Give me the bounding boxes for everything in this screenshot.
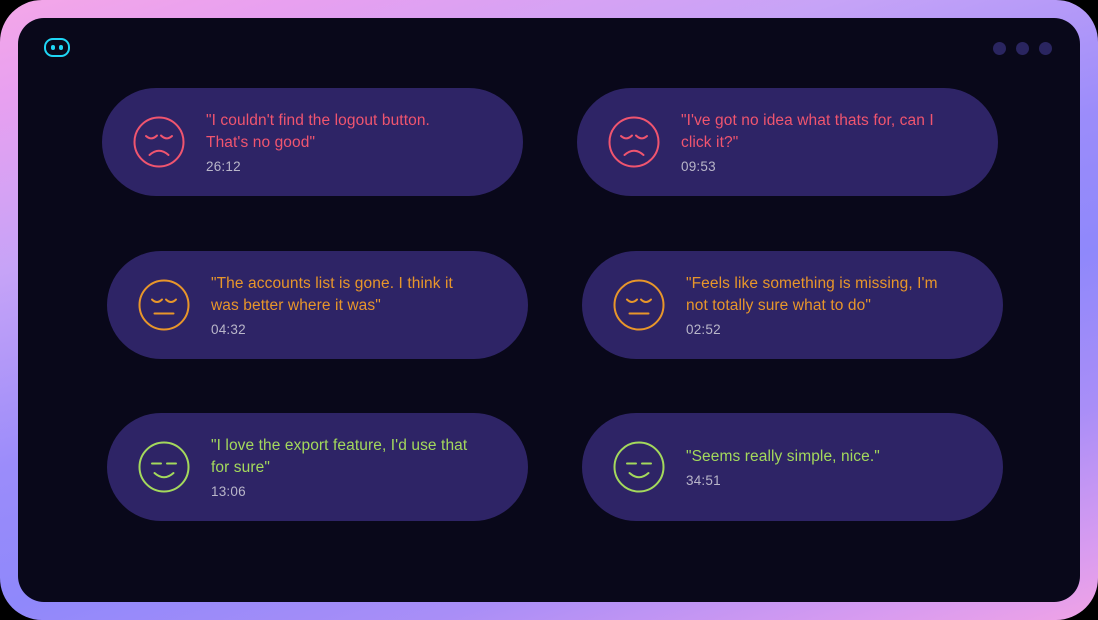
happy-face-icon bbox=[612, 440, 666, 494]
feedback-card-body: "Feels like something is missing, I'm no… bbox=[686, 273, 954, 337]
feedback-timestamp: 13:06 bbox=[211, 484, 479, 499]
logo-eye-left bbox=[51, 45, 56, 50]
title-bar bbox=[18, 18, 1080, 76]
feedback-quote: "I love the export feature, I'd use that… bbox=[211, 435, 479, 479]
feedback-row-3: "I love the export feature, I'd use that… bbox=[107, 413, 1003, 521]
neutral-face-icon bbox=[612, 278, 666, 332]
sad-face-icon bbox=[132, 115, 186, 169]
feedback-card[interactable]: "The accounts list is gone. I think it w… bbox=[107, 251, 528, 359]
feedback-quote: "Feels like something is missing, I'm no… bbox=[686, 273, 954, 317]
logo-eye-right bbox=[59, 45, 64, 50]
feedback-card[interactable]: "I've got no idea what thats for, can I … bbox=[577, 88, 998, 196]
feedback-timestamp: 02:52 bbox=[686, 322, 954, 337]
feedback-card-body: "Seems really simple, nice."34:51 bbox=[686, 446, 880, 488]
feedback-quote: "The accounts list is gone. I think it w… bbox=[211, 273, 479, 317]
feedback-timestamp: 09:53 bbox=[681, 159, 949, 174]
window-dot-3[interactable] bbox=[1039, 42, 1052, 55]
feedback-card-body: "I've got no idea what thats for, can I … bbox=[681, 110, 949, 174]
chat-bot-logo-icon bbox=[44, 38, 70, 57]
window-controls[interactable] bbox=[993, 42, 1052, 55]
window-dot-1[interactable] bbox=[993, 42, 1006, 55]
feedback-quote: "Seems really simple, nice." bbox=[686, 446, 880, 468]
feedback-card-body: "The accounts list is gone. I think it w… bbox=[211, 273, 479, 337]
feedback-quote: "I've got no idea what thats for, can I … bbox=[681, 110, 949, 154]
feedback-card[interactable]: "I couldn't find the logout button. That… bbox=[102, 88, 523, 196]
feedback-card-body: "I couldn't find the logout button. That… bbox=[206, 110, 474, 174]
neutral-face-icon bbox=[137, 278, 191, 332]
feedback-timestamp: 34:51 bbox=[686, 473, 880, 488]
feedback-card[interactable]: "Seems really simple, nice."34:51 bbox=[582, 413, 1003, 521]
feedback-card[interactable]: "Feels like something is missing, I'm no… bbox=[582, 251, 1003, 359]
feedback-quote: "I couldn't find the logout button. That… bbox=[206, 110, 474, 154]
feedback-card[interactable]: "I love the export feature, I'd use that… bbox=[107, 413, 528, 521]
happy-face-icon bbox=[137, 440, 191, 494]
feedback-timestamp: 04:32 bbox=[211, 322, 479, 337]
feedback-timestamp: 26:12 bbox=[206, 159, 474, 174]
feedback-card-body: "I love the export feature, I'd use that… bbox=[211, 435, 479, 499]
app-window-frame: "I couldn't find the logout button. That… bbox=[0, 0, 1098, 620]
window-dot-2[interactable] bbox=[1016, 42, 1029, 55]
feedback-row-1: "I couldn't find the logout button. That… bbox=[102, 88, 998, 196]
app-window: "I couldn't find the logout button. That… bbox=[18, 18, 1080, 602]
feedback-row-2: "The accounts list is gone. I think it w… bbox=[107, 251, 1003, 359]
sad-face-icon bbox=[607, 115, 661, 169]
